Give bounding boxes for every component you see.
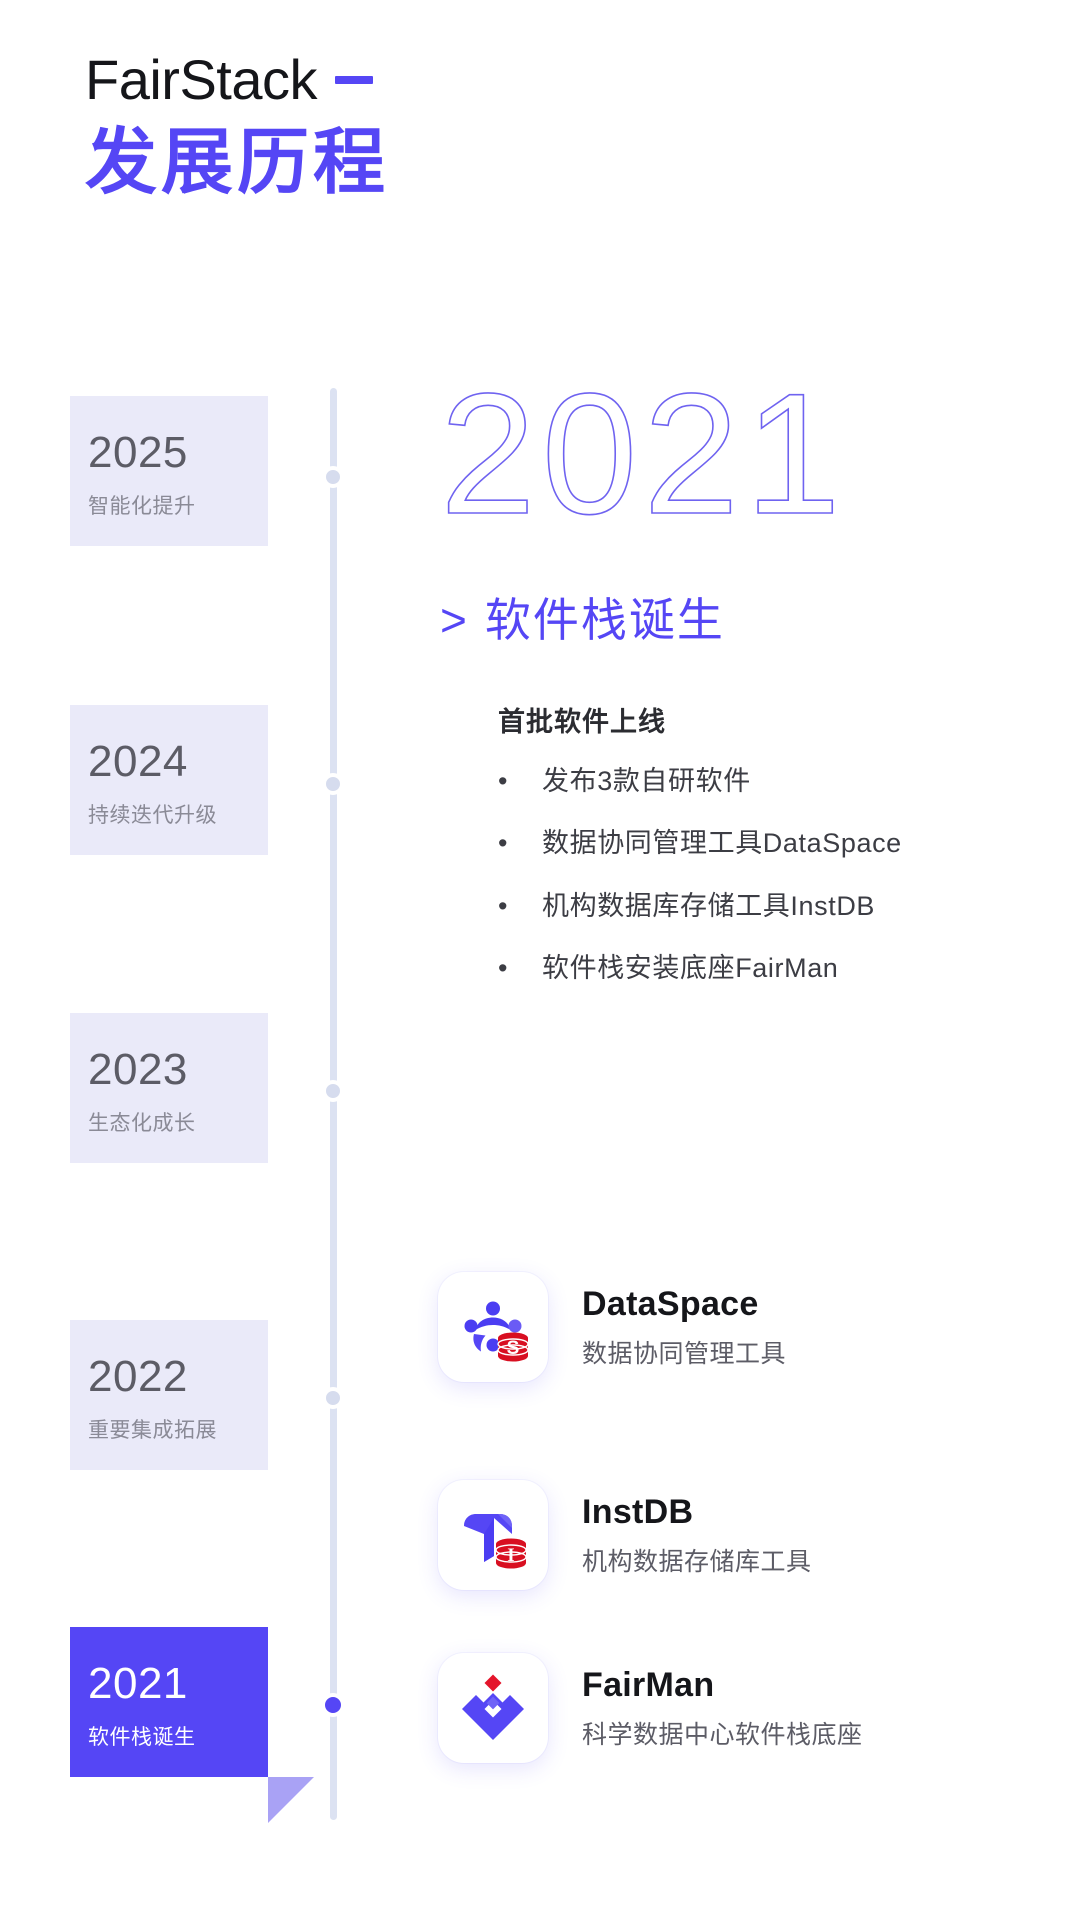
detail-bullet-list: • 发布3款自研软件 • 数据协同管理工具DataSpace • 机构数据库存储…: [498, 765, 1058, 985]
horizontal-dash-icon: [335, 76, 373, 84]
fairman-diamond-icon: [438, 1653, 548, 1763]
year-card-2024[interactable]: 2024 持续迭代升级: [70, 705, 268, 855]
bullet-dot-icon: •: [498, 952, 542, 984]
detail-heading: >软件栈诞生: [440, 584, 725, 650]
timeline-axis: [330, 388, 337, 1820]
dataspace-people-database-icon: S: [438, 1272, 548, 1382]
svg-text:I: I: [507, 1545, 514, 1566]
chevron-right-icon: >: [440, 594, 469, 646]
ghost-year-outline: 2021: [440, 368, 847, 540]
year-card-2021[interactable]: 2021 软件栈诞生: [70, 1627, 268, 1777]
product-desc: 机构数据存储库工具: [582, 1542, 812, 1578]
bullet-dot-icon: •: [498, 890, 542, 922]
bullet-dot-icon: •: [498, 765, 542, 797]
timeline-dot-2021[interactable]: [321, 1693, 345, 1717]
detail-heading-text: 软件栈诞生: [485, 594, 725, 646]
brand-row: FairStack: [85, 48, 389, 112]
detail-section-title: 首批软件上线: [498, 700, 1058, 739]
product-text: DataSpace 数据协同管理工具: [582, 1285, 786, 1370]
timeline-dot-2022[interactable]: [322, 1387, 344, 1409]
active-card-tail: [268, 1777, 314, 1823]
product-name: FairMan: [582, 1666, 863, 1705]
list-item-text: 数据协同管理工具DataSpace: [542, 827, 902, 859]
list-item: • 数据协同管理工具DataSpace: [498, 827, 1058, 859]
timeline-page: FairStack 发展历程 2025 智能化提升 2024 持续迭代升级 20…: [0, 0, 1080, 1920]
year-card-2025[interactable]: 2025 智能化提升: [70, 396, 268, 546]
page-header: FairStack 发展历程: [85, 48, 389, 205]
list-item: • 发布3款自研软件: [498, 765, 1058, 797]
timeline-dot-2023[interactable]: [322, 1080, 344, 1102]
page-subtitle-cn: 发展历程: [85, 122, 389, 205]
year-label: 2024: [88, 739, 268, 785]
list-item: • 软件栈安装底座FairMan: [498, 952, 1058, 984]
product-card-instdb[interactable]: I InstDB 机构数据存储库工具: [438, 1480, 812, 1590]
year-sublabel: 生态化成长: [88, 1107, 268, 1137]
year-label: 2021: [88, 1661, 268, 1707]
year-label: 2023: [88, 1047, 268, 1093]
list-item-text: 发布3款自研软件: [542, 765, 751, 797]
product-name: DataSpace: [582, 1285, 786, 1324]
year-label: 2022: [88, 1354, 268, 1400]
bullet-dot-icon: •: [498, 827, 542, 859]
product-desc: 科学数据中心软件栈底座: [582, 1715, 863, 1751]
product-text: InstDB 机构数据存储库工具: [582, 1493, 812, 1578]
year-sublabel: 持续迭代升级: [88, 799, 268, 829]
year-label: 2025: [88, 430, 268, 476]
list-item-text: 软件栈安装底座FairMan: [542, 952, 838, 984]
product-desc: 数据协同管理工具: [582, 1334, 786, 1370]
list-item: • 机构数据库存储工具InstDB: [498, 890, 1058, 922]
year-sublabel: 软件栈诞生: [88, 1721, 268, 1751]
year-sublabel: 智能化提升: [88, 490, 268, 520]
product-text: FairMan 科学数据中心软件栈底座: [582, 1666, 863, 1751]
page-title: FairStack: [85, 48, 317, 112]
svg-text:S: S: [507, 1338, 520, 1359]
year-sublabel: 重要集成拓展: [88, 1414, 268, 1444]
product-name: InstDB: [582, 1493, 812, 1532]
timeline-dot-2025[interactable]: [322, 466, 344, 488]
list-item-text: 机构数据库存储工具InstDB: [542, 890, 875, 922]
instdb-arch-database-icon: I: [438, 1480, 548, 1590]
product-card-dataspace[interactable]: S DataSpace 数据协同管理工具: [438, 1272, 786, 1382]
year-card-2022[interactable]: 2022 重要集成拓展: [70, 1320, 268, 1470]
detail-body: 首批软件上线 • 发布3款自研软件 • 数据协同管理工具DataSpace • …: [498, 700, 1058, 1015]
timeline-dot-2024[interactable]: [322, 773, 344, 795]
product-card-fairman[interactable]: FairMan 科学数据中心软件栈底座: [438, 1653, 863, 1763]
year-card-2023[interactable]: 2023 生态化成长: [70, 1013, 268, 1163]
